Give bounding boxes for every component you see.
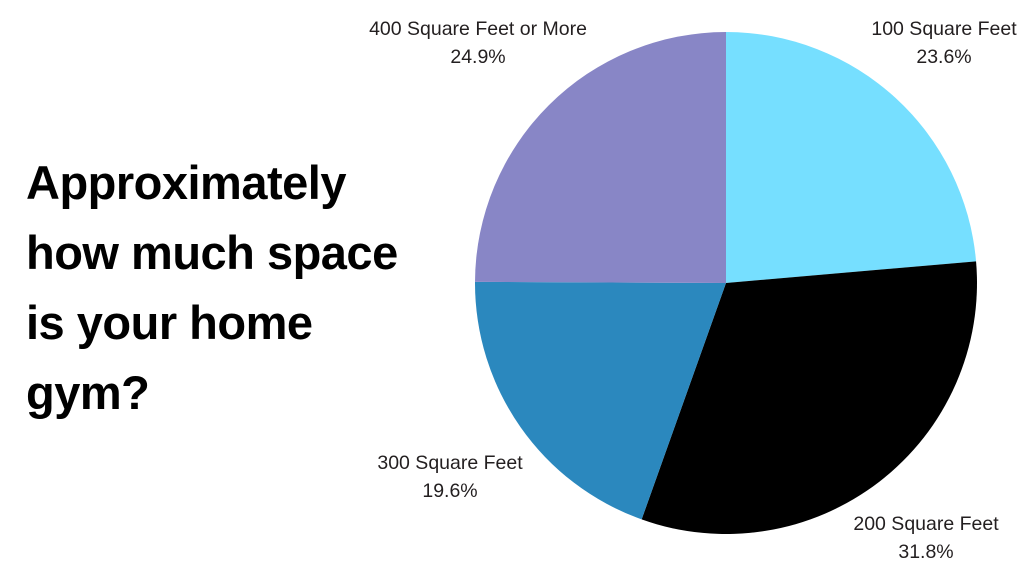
pie-label-300-square-feet: 300 Square Feet 19.6% (356, 449, 544, 505)
pie-label-percent: 23.6% (856, 43, 1024, 71)
slide-canvas: Approximately how much space is your hom… (0, 0, 1024, 576)
pie-label-category: 100 Square Feet (856, 15, 1024, 43)
pie-label-percent: 24.9% (348, 43, 608, 71)
pie-label-100-square-feet: 100 Square Feet 23.6% (856, 15, 1024, 71)
pie-label-200-square-feet: 200 Square Feet 31.8% (836, 510, 1016, 566)
pie-label-category: 400 Square Feet or More (348, 15, 608, 43)
pie-label-category: 300 Square Feet (356, 449, 544, 477)
pie-slices (475, 32, 977, 534)
pie-label-percent: 31.8% (836, 538, 1016, 566)
pie-label-percent: 19.6% (356, 477, 544, 505)
pie-label-400-square-feet-or-more: 400 Square Feet or More 24.9% (348, 15, 608, 71)
pie-label-category: 200 Square Feet (836, 510, 1016, 538)
